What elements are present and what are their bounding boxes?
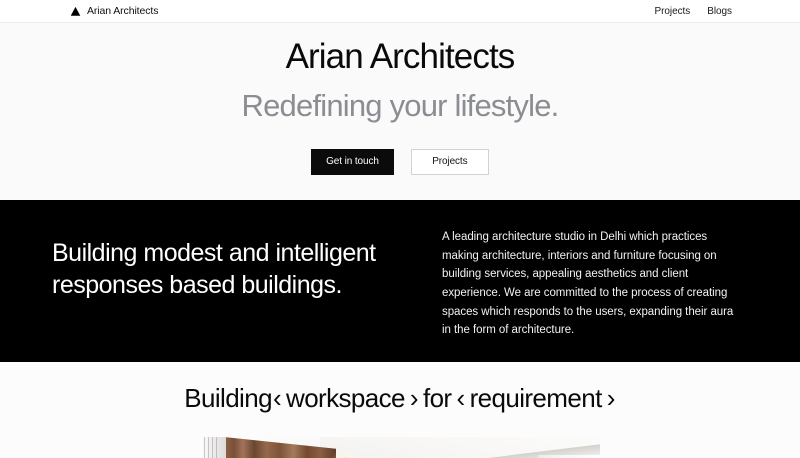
band-heading: Building modest and intelligent response…: [52, 228, 382, 301]
get-in-touch-button[interactable]: Get in touch: [311, 149, 394, 175]
band-paragraph: A leading architecture studio in Delhi w…: [442, 228, 742, 340]
hero-actions: Get in touch Projects: [311, 149, 489, 175]
feature-section: Building ‹ workspace › for ‹ requirement…: [0, 362, 800, 458]
interior-office-photo: [200, 437, 600, 458]
nav-links: Projects Blogs: [655, 6, 733, 17]
photo-left-wall-lines: [204, 437, 218, 458]
hero-title: Arian Architects: [286, 36, 515, 78]
brand-logo[interactable]: Arian Architects: [70, 5, 158, 17]
landing-page: Arian Architects Projects Blogs Arian Ar…: [0, 0, 800, 458]
feature-tag-workspace: workspace: [282, 383, 409, 414]
chevron-right-icon-1: ›: [409, 383, 419, 414]
feature-heading: Building ‹ workspace › for ‹ requirement…: [184, 383, 616, 414]
chevron-left-icon-1: ‹: [272, 383, 282, 414]
statement-band: Building modest and intelligent response…: [0, 200, 800, 362]
projects-button[interactable]: Projects: [411, 149, 489, 175]
hero-section: Arian Architects Redefining your lifesty…: [0, 23, 800, 200]
feature-tag-requirement: requirement: [466, 383, 606, 414]
feature-prefix: Building: [184, 383, 272, 414]
feature-middle: for: [419, 383, 456, 414]
triangle-logo-icon: [70, 6, 81, 17]
navbar: Arian Architects Projects Blogs: [0, 0, 800, 23]
chevron-right-icon-2: ›: [606, 383, 616, 414]
hero-subtitle: Redefining your lifestyle.: [242, 87, 559, 124]
feature-image: [200, 437, 600, 458]
brand-name: Arian Architects: [87, 5, 158, 17]
nav-link-blogs[interactable]: Blogs: [707, 6, 732, 17]
chevron-left-icon-2: ‹: [456, 383, 466, 414]
nav-link-projects[interactable]: Projects: [655, 6, 691, 17]
